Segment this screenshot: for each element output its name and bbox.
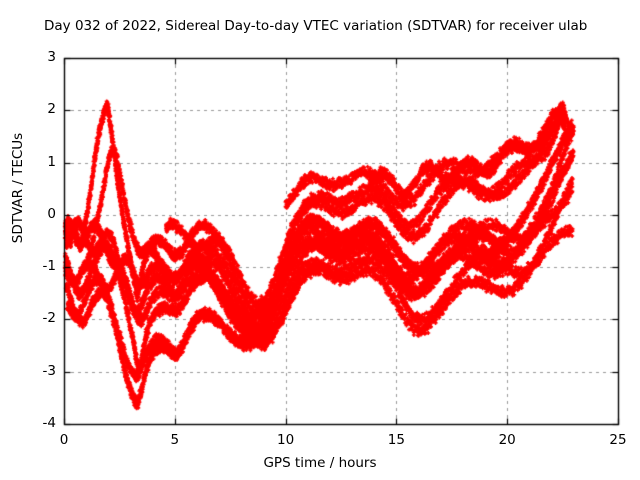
x-tick-label: 15 — [371, 432, 421, 448]
figure-container: Day 032 of 2022, Sidereal Day-to-day VTE… — [0, 0, 640, 480]
x-tick-label: 0 — [39, 432, 89, 448]
x-tick-label: 10 — [261, 432, 311, 448]
scatter-plot-canvas — [0, 0, 640, 480]
x-axis-label: GPS time / hours — [263, 455, 376, 471]
x-tick-label: 25 — [593, 432, 640, 448]
x-tick-label: 20 — [482, 432, 532, 448]
y-tick-label: 2 — [12, 101, 56, 117]
y-tick-label: 3 — [12, 49, 56, 65]
y-tick-label: 1 — [12, 154, 56, 170]
y-tick-label: -2 — [12, 310, 56, 326]
x-tick-label: 5 — [150, 432, 200, 448]
y-axis-label: SDTVAR / TECUs — [10, 133, 26, 243]
y-tick-label: -1 — [12, 258, 56, 274]
y-tick-label: -3 — [12, 363, 56, 379]
y-tick-label: -4 — [12, 415, 56, 431]
x-axis-label-wrapper: GPS time / hours — [0, 455, 640, 471]
y-tick-label: 0 — [12, 206, 56, 222]
